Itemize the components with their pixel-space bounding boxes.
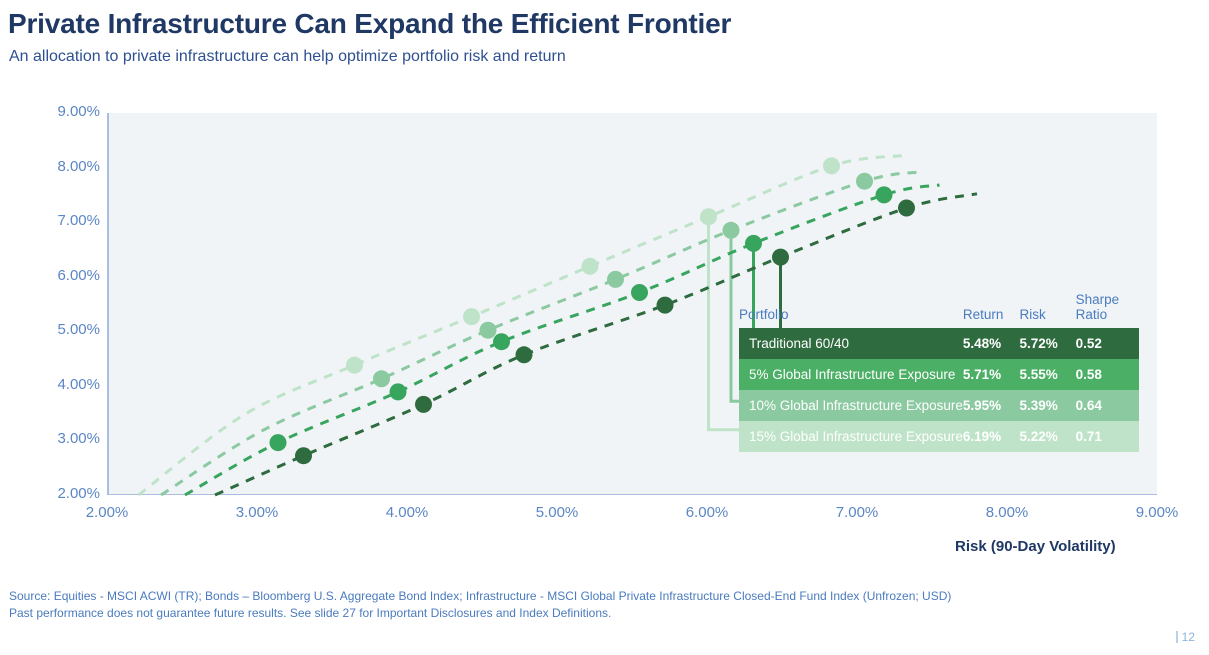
- cell-risk: 5.22%: [1020, 421, 1076, 452]
- page-number: 12: [1176, 630, 1195, 644]
- col-risk: Risk: [1020, 292, 1076, 328]
- cell-risk: 5.55%: [1020, 359, 1076, 390]
- x-tick-label: 7.00%: [812, 504, 902, 521]
- cell-risk: 5.72%: [1020, 328, 1076, 359]
- table-row[interactable]: 5% Global Infrastructure Exposure5.71%5.…: [739, 359, 1139, 390]
- table-header-row: Portfolio Return Risk Sharpe Ratio: [739, 292, 1139, 328]
- y-tick-label: 5.00%: [30, 321, 100, 338]
- page-subtitle: An allocation to private infrastructure …: [9, 48, 1009, 66]
- source-note: Source: Equities - MSCI ACWI (TR); Bonds…: [9, 588, 1009, 622]
- x-tick-label: 3.00%: [212, 504, 302, 521]
- x-axis-title: Risk (90-Day Volatility): [955, 538, 1116, 555]
- y-tick-label: 7.00%: [30, 212, 100, 229]
- cell-portfolio: Traditional 60/40: [739, 328, 963, 359]
- cell-sharpe: 0.71: [1076, 421, 1139, 452]
- x-tick-label: 2.00%: [62, 504, 152, 521]
- table-row[interactable]: 15% Global Infrastructure Exposure6.19%5…: [739, 421, 1139, 452]
- page-title: Private Infrastructure Can Expand the Ef…: [8, 8, 1008, 40]
- page-number-value: 12: [1182, 630, 1195, 644]
- x-tick-label: 5.00%: [512, 504, 602, 521]
- cell-sharpe: 0.58: [1076, 359, 1139, 390]
- table-row[interactable]: 10% Global Infrastructure Exposure5.95%5…: [739, 390, 1139, 421]
- x-tick-label: 9.00%: [1112, 504, 1202, 521]
- table-body: Traditional 60/405.48%5.72%0.525% Global…: [739, 328, 1139, 452]
- cell-portfolio: 5% Global Infrastructure Exposure: [739, 359, 963, 390]
- y-axis-title: Annualized Total Return: [0, 35, 2, 255]
- table-row[interactable]: Traditional 60/405.48%5.72%0.52: [739, 328, 1139, 359]
- page-bar-icon: [1176, 631, 1178, 643]
- y-tick-label: 8.00%: [30, 158, 100, 175]
- cell-return: 5.95%: [963, 390, 1020, 421]
- col-sharpe: Sharpe Ratio: [1076, 292, 1139, 328]
- cell-return: 5.71%: [963, 359, 1020, 390]
- portfolio-table: Portfolio Return Risk Sharpe Ratio Tradi…: [739, 292, 1139, 452]
- cell-portfolio: 10% Global Infrastructure Exposure: [739, 390, 963, 421]
- source-line-2: Past performance does not guarantee futu…: [9, 605, 1009, 622]
- y-tick-label: 4.00%: [30, 376, 100, 393]
- y-tick-label: 6.00%: [30, 267, 100, 284]
- col-sharpe-line2: Ratio: [1076, 307, 1108, 322]
- cell-return: 6.19%: [963, 421, 1020, 452]
- cell-sharpe: 0.64: [1076, 390, 1139, 421]
- x-tick-label: 4.00%: [362, 504, 452, 521]
- cell-return: 5.48%: [963, 328, 1020, 359]
- y-tick-label: 3.00%: [30, 430, 100, 447]
- x-tick-label: 8.00%: [962, 504, 1052, 521]
- cell-risk: 5.39%: [1020, 390, 1076, 421]
- source-line-1: Source: Equities - MSCI ACWI (TR); Bonds…: [9, 588, 1009, 605]
- y-tick-label: 2.00%: [30, 485, 100, 502]
- cell-sharpe: 0.52: [1076, 328, 1139, 359]
- col-return: Return: [963, 292, 1020, 328]
- y-tick-label: 9.00%: [30, 103, 100, 120]
- col-sharpe-line1: Sharpe: [1076, 292, 1120, 307]
- cell-portfolio: 15% Global Infrastructure Exposure: [739, 421, 963, 452]
- col-portfolio: Portfolio: [739, 292, 963, 328]
- x-tick-label: 6.00%: [662, 504, 752, 521]
